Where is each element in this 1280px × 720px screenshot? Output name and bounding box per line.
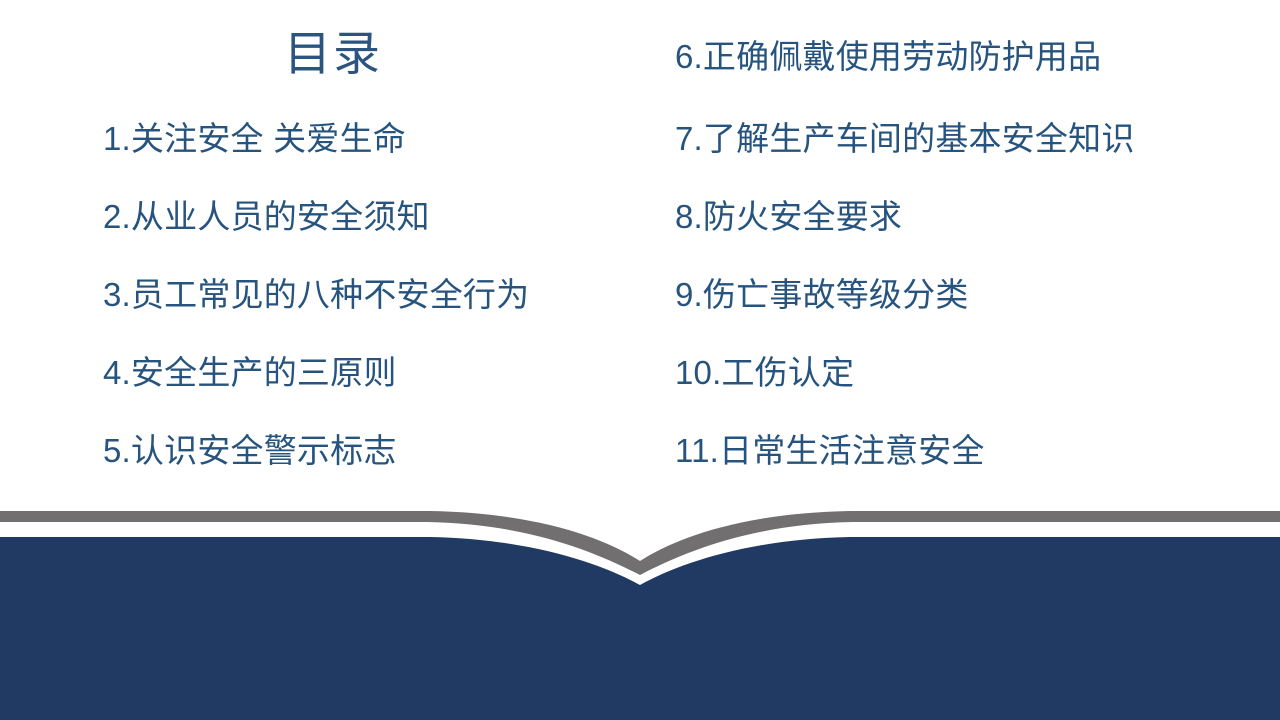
toc-item[interactable]: 11.日常生活注意安全 [675,430,985,472]
toc-item[interactable]: 5.认识安全警示标志 [103,430,397,472]
open-book-decoration [0,495,1280,720]
toc-item[interactable]: 9.伤亡事故等级分类 [675,274,969,316]
table-of-contents: 目录 1.关注安全 关爱生命 2.从业人员的安全须知 3.员工常见的八种不安全行… [0,0,1280,500]
toc-item[interactable]: 7.了解生产车间的基本安全知识 [675,118,1135,160]
slide-canvas: 目录 1.关注安全 关爱生命 2.从业人员的安全须知 3.员工常见的八种不安全行… [0,0,1280,720]
toc-item[interactable]: 6.正确佩戴使用劳动防护用品 [675,36,1101,78]
toc-item[interactable]: 3.员工常见的八种不安全行为 [103,274,529,316]
toc-item[interactable]: 1.关注安全 关爱生命 [103,118,406,160]
toc-item[interactable]: 10.工伤认定 [675,352,854,394]
toc-item[interactable]: 2.从业人员的安全须知 [103,196,430,238]
toc-item[interactable]: 4.安全生产的三原则 [103,352,397,394]
page-title: 目录 [103,28,563,81]
toc-item[interactable]: 8.防火安全要求 [675,196,902,238]
